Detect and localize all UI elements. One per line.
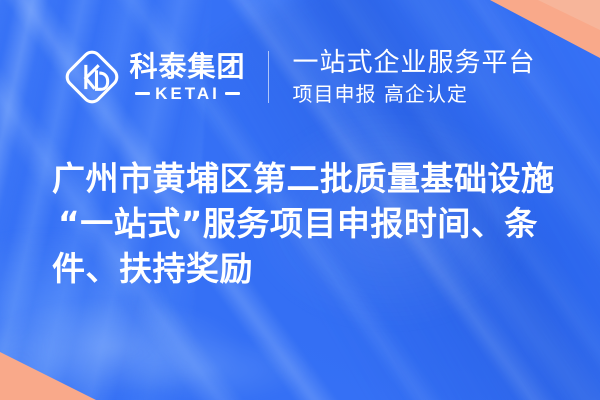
wordmark-dash-left (135, 92, 150, 95)
promo-banner: 科泰集团 KETAI 一站式企业服务平台 项目申报 高企认定 广州市黄埔区第二批… (0, 0, 600, 400)
tagline-sub: 项目申报 高企认定 (293, 83, 536, 105)
brand-wordmark: 科泰集团 KETAI (129, 53, 245, 102)
banner-title: 广州市黄埔区第二批质量基础设施 “一站式”服务项目申报时间、条 件、扶持奖励 (0, 156, 600, 291)
title-line-1: 广州市黄埔区第二批质量基础设施 (52, 156, 548, 201)
tagline-block: 一站式企业服务平台 项目申报 高企认定 (269, 49, 536, 105)
brand-lockup: 科泰集团 KETAI (64, 49, 267, 105)
brand-name-en-row: KETAI (135, 85, 240, 102)
banner-header: 科泰集团 KETAI 一站式企业服务平台 项目申报 高企认定 (0, 36, 600, 118)
brand-name-en: KETAI (155, 85, 220, 102)
ketai-logo-icon (64, 49, 120, 105)
title-line-3: 件、扶持奖励 (52, 246, 548, 291)
tagline-main: 一站式企业服务平台 (293, 49, 536, 78)
title-line-2: “一站式”服务项目申报时间、条 (52, 201, 548, 246)
brand-name-cn: 科泰集团 (129, 53, 245, 81)
wordmark-dash-right (225, 92, 240, 95)
